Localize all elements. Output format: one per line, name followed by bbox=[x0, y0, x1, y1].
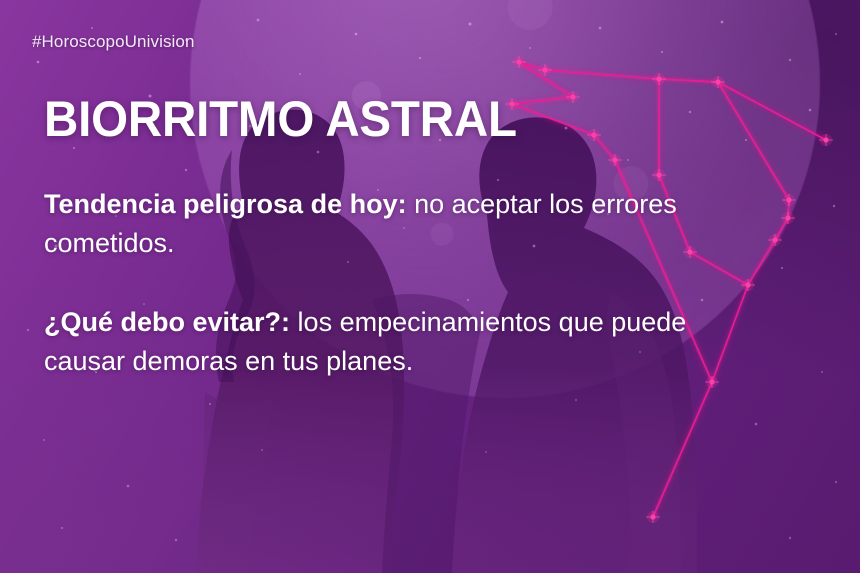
paragraph-tendencia: Tendencia peligrosa de hoy: no aceptar l… bbox=[44, 185, 756, 263]
text-content: #HoroscopoUnivision BIORRITMO ASTRAL Ten… bbox=[0, 0, 860, 573]
page-title: BIORRITMO ASTRAL bbox=[44, 93, 517, 145]
horoscope-card: #HoroscopoUnivision BIORRITMO ASTRAL Ten… bbox=[0, 0, 860, 573]
paragraph-evitar-lead: ¿Qué debo evitar?: bbox=[44, 307, 290, 337]
paragraph-evitar: ¿Qué debo evitar?: los empecinamientos q… bbox=[44, 303, 756, 381]
hashtag-label: #HoroscopoUnivision bbox=[32, 32, 195, 52]
paragraph-tendencia-lead: Tendencia peligrosa de hoy: bbox=[44, 189, 407, 219]
